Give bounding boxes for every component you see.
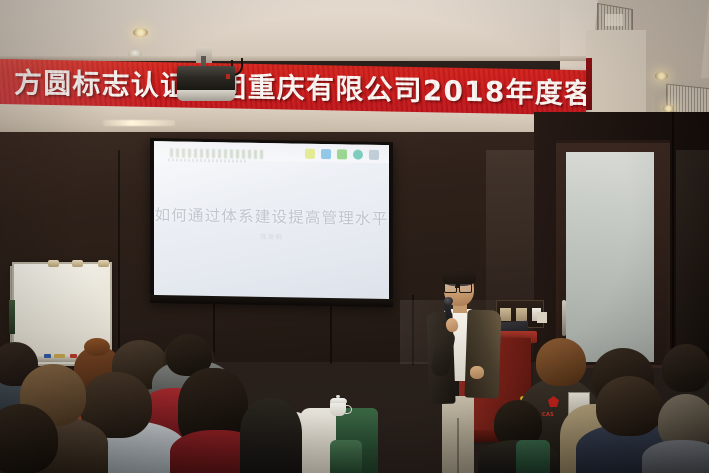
- chair-back-green: [330, 440, 362, 473]
- wall-panel-seam: [118, 150, 120, 364]
- whiteboard-clip: [72, 260, 83, 267]
- projection-screen-frame: 如何通过体系建设提高管理水平 陈发明: [150, 138, 393, 305]
- door-handle[interactable]: [562, 300, 566, 336]
- slide-company-logo: [170, 148, 264, 159]
- downlight-icon: [663, 105, 674, 112]
- teacup-knob: [336, 395, 340, 398]
- whiteboard-clip: [98, 260, 109, 267]
- upper-right-wall: [586, 30, 646, 116]
- ceiling-light-panel: [605, 14, 623, 26]
- badge-label: CAS: [542, 412, 554, 418]
- audience-member: [240, 398, 302, 473]
- wall-panel-seam: [672, 112, 674, 362]
- marker-blue[interactable]: [44, 354, 51, 358]
- speaker-gesturing-hand: [470, 366, 484, 379]
- downlight-icon: [655, 72, 668, 80]
- audience-member: [642, 440, 709, 473]
- marker-gold[interactable]: [54, 354, 65, 358]
- slide-icon-grey: [369, 150, 379, 160]
- glasses-icon: [444, 283, 474, 291]
- downlight-icon: [133, 28, 148, 37]
- slide-company-logo-subtext: [168, 158, 248, 162]
- chair-back-green: [516, 440, 550, 473]
- teacup: [330, 402, 346, 416]
- teacup-lid: [330, 398, 347, 403]
- whiteboard-side-object: [9, 300, 15, 334]
- speaker-leg-seam: [457, 418, 459, 473]
- whiteboard-clip: [48, 260, 59, 267]
- projection-screen: 如何通过体系建设提高管理水平 陈发明: [154, 141, 389, 301]
- speaker-jacket-right: [464, 309, 501, 398]
- ceiling-projector: [177, 66, 235, 92]
- slide-icon-blue: [321, 149, 331, 159]
- projector-indicator-light: [226, 74, 230, 79]
- slide-icon-yellow: [305, 149, 315, 159]
- slide-icon-teal: [353, 150, 363, 160]
- microphone-head: [444, 297, 453, 305]
- audience-head: [662, 344, 709, 392]
- conference-photo-scene: 方圆标志认证集团重庆有限公司2018年度客户研讨会: [0, 0, 709, 473]
- projector-lens: [177, 90, 235, 101]
- wall-panel-seam: [330, 300, 332, 364]
- audience-head: [536, 338, 586, 386]
- slide-icon-green: [337, 149, 347, 159]
- slide-title: 如何通过体系建设提高管理水平: [154, 203, 389, 229]
- audience-hair-bun: [84, 338, 110, 356]
- banner-right-edge: [586, 58, 592, 110]
- slide-subtitle: 陈发明: [154, 229, 389, 243]
- frosted-glass-door[interactable]: [566, 152, 654, 362]
- wall-reflection: [676, 150, 709, 350]
- wall-strip-light: [103, 120, 175, 126]
- power-outlet[interactable]: [537, 312, 547, 323]
- slide-icon-row: [305, 149, 379, 160]
- light-switch-key[interactable]: [516, 308, 527, 321]
